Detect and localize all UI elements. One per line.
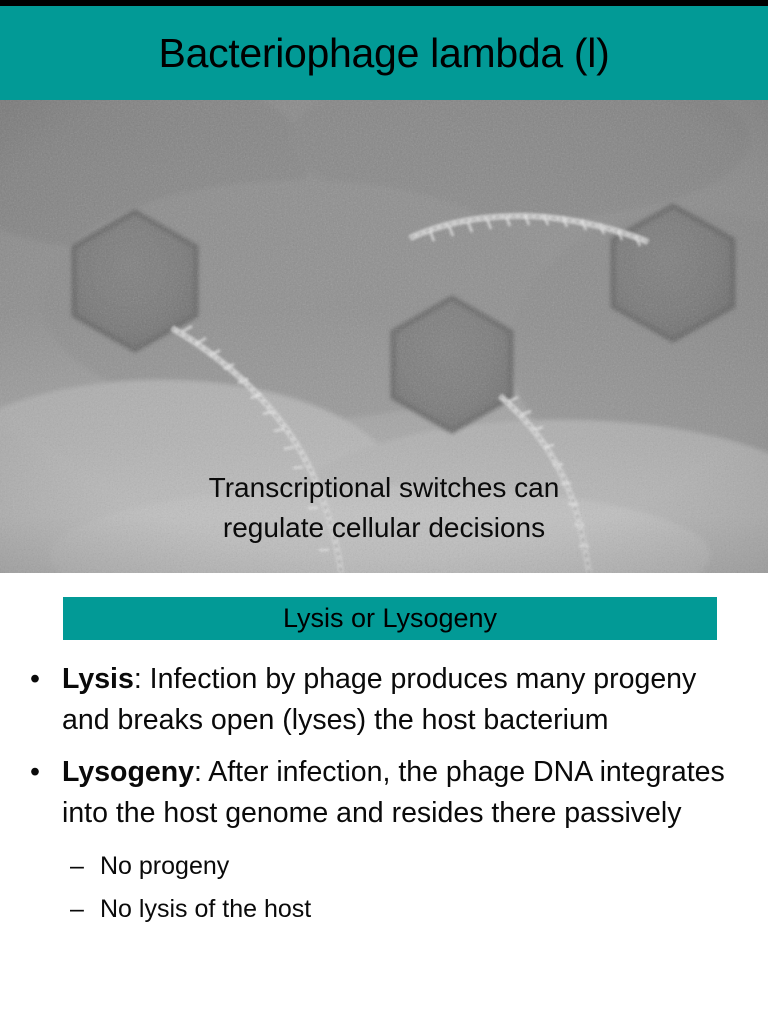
- bullet-separator: :: [134, 663, 150, 695]
- section-banner: Lysis or Lysogeny: [63, 597, 717, 640]
- subbullet-item-clipped: –: [0, 931, 768, 939]
- bullet-item-lysogeny: •Lysogeny: After infection, the phage DN…: [0, 752, 768, 834]
- bullet-lead-lysis: Lysis: [62, 663, 134, 695]
- subbullet-text-no-progeny: No progeny: [100, 852, 229, 880]
- bullet-lead-lysogeny: Lysogeny: [62, 756, 194, 788]
- bullet-separator: :: [194, 756, 208, 788]
- subbullet-item-no-progeny: –No progeny: [0, 845, 768, 888]
- bullet-marker-icon: •: [30, 659, 40, 700]
- bullet-marker-icon: •: [30, 752, 40, 793]
- subbullet-text-no-lysis: No lysis of the host: [100, 895, 311, 923]
- figure-caption-line-1: Transcriptional switches can: [0, 468, 768, 508]
- figure-caption: Transcriptional switches can regulate ce…: [0, 468, 768, 548]
- figure-caption-line-2: regulate cellular decisions: [0, 508, 768, 548]
- page-title: Bacteriophage lambda (l): [159, 33, 610, 74]
- dash-marker-icon: –: [70, 888, 84, 931]
- dash-marker-icon: –: [70, 845, 84, 888]
- section-banner-label: Lysis or Lysogeny: [283, 605, 497, 632]
- slide-body: Lysis or Lysogeny •Lysis: Infection by p…: [0, 573, 768, 1024]
- bullet-list: •Lysis: Infection by phage produces many…: [0, 659, 768, 939]
- electron-micrograph-figure: Transcriptional switches can regulate ce…: [0, 100, 768, 573]
- bullet-text-lysis: Infection by phage produces many progeny…: [62, 663, 696, 736]
- subbullet-item-no-lysis: –No lysis of the host: [0, 888, 768, 931]
- bullet-item-lysis: •Lysis: Infection by phage produces many…: [0, 659, 768, 741]
- dash-marker-icon: –: [70, 931, 84, 939]
- slide-title-band: Bacteriophage lambda (l): [0, 6, 768, 100]
